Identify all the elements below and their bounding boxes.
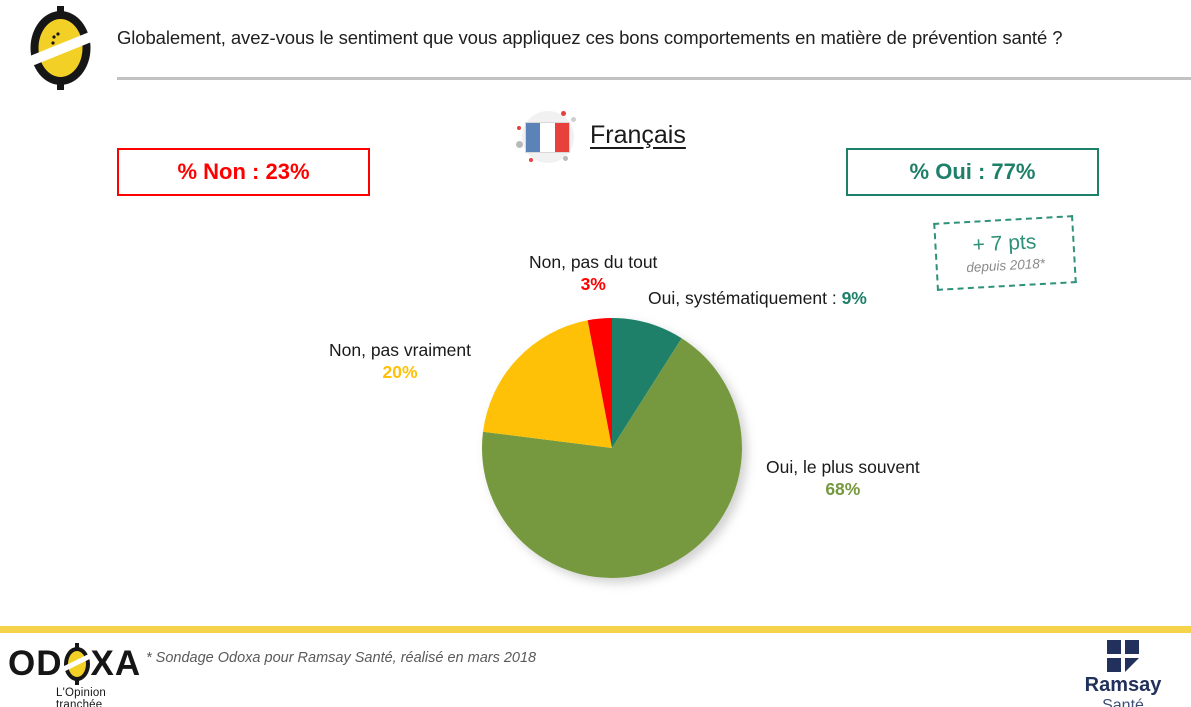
ramsay-logo-name: Ramsay <box>1073 675 1173 696</box>
pie-slices <box>482 318 742 578</box>
pie-label-text: Non, pas vraiment <box>329 340 471 360</box>
summary-non-label: % Non : 23% <box>177 159 309 185</box>
odoxa-egg-logo-icon <box>24 6 98 90</box>
summary-oui-label: % Oui : 77% <box>910 159 1036 185</box>
summary-box-oui: % Oui : 77% <box>846 148 1099 196</box>
odoxa-tagline: L'Opinion tranchée <box>56 687 148 707</box>
country-heading: Français <box>516 108 686 164</box>
odoxa-logo-text-left: OD <box>8 646 63 681</box>
evolution-note: depuis 2018* <box>966 255 1046 274</box>
pie-label-text: Oui, systématiquement : <box>648 288 842 308</box>
odoxa-logo: OD XA L'Opinion tranchée <box>8 646 148 707</box>
pie-label-non-pas-du-tout: Non, pas du tout 3% <box>529 252 657 295</box>
slide: Globalement, avez-vous le sentiment que … <box>0 0 1191 707</box>
page-title: Globalement, avez-vous le sentiment que … <box>117 26 1167 50</box>
ramsay-sante-logo: Ramsay Santé <box>1073 640 1173 707</box>
pie-label-text: Non, pas du tout <box>529 252 657 272</box>
odoxa-logo-text-right: XA <box>91 646 142 681</box>
evolution-callout: + 7 pts depuis 2018* <box>933 215 1077 291</box>
ramsay-grid-icon <box>1107 640 1139 672</box>
header-divider <box>117 77 1191 80</box>
france-flag-icon <box>516 108 578 164</box>
odoxa-egg-mark-icon <box>64 647 90 681</box>
pie-label-value: 68% <box>766 479 920 500</box>
ramsay-logo-sub: Santé <box>1073 696 1173 707</box>
evolution-value: + 7 pts <box>972 232 1037 258</box>
summary-box-non: % Non : 23% <box>117 148 370 196</box>
pie-label-oui-systematiquement: Oui, systématiquement : 9% <box>648 288 867 309</box>
pie-label-value: 3% <box>529 274 657 295</box>
footnote-text: * Sondage Odoxa pour Ramsay Santé, réali… <box>146 650 536 666</box>
pie-chart-svg <box>470 305 762 597</box>
pie-label-value: 20% <box>329 362 471 383</box>
pie-label-value: 9% <box>842 288 867 308</box>
country-label: Français <box>590 121 686 152</box>
pie-label-text: Oui, le plus souvent <box>766 457 920 477</box>
pie-label-non-pas-vraiment: Non, pas vraiment 20% <box>329 340 471 383</box>
pie-label-oui-le-plus-souvent: Oui, le plus souvent 68% <box>766 457 920 500</box>
footer-accent-bar <box>0 626 1191 633</box>
pie-chart <box>470 305 762 597</box>
